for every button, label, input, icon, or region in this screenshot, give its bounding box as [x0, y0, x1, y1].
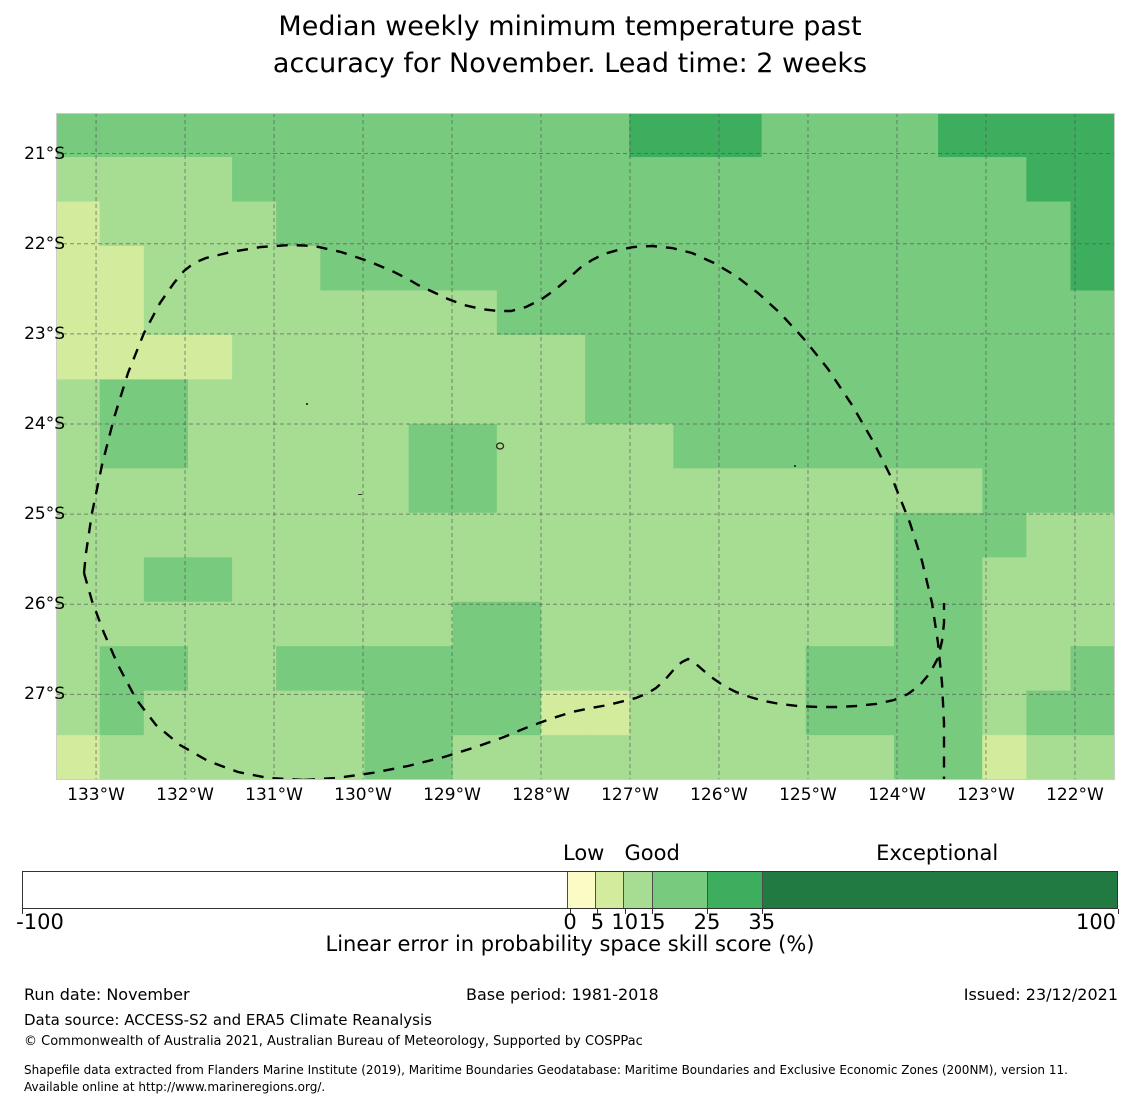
colorbar-tick-mark	[22, 909, 23, 914]
run-date-text: Run date: November	[24, 985, 190, 1004]
x-tick-label: 129°W	[423, 787, 481, 804]
x-tick-label: 123°W	[957, 787, 1015, 804]
colorbar-tick-mark	[707, 909, 708, 914]
x-tick-label: 126°W	[690, 787, 748, 804]
colorbar-tick-label: 35	[748, 912, 775, 933]
island-markers	[56, 113, 1115, 780]
colorbar-segment	[596, 872, 624, 908]
y-tick-label: 23°S	[24, 326, 65, 343]
x-tick-label: 132°W	[156, 787, 214, 804]
colorbar-segment	[23, 872, 568, 908]
data-source-text: Data source: ACCESS-S2 and ERA5 Climate …	[24, 1011, 432, 1029]
footer: Run date: November Base period: 1981-201…	[0, 985, 1140, 1007]
shapefile-attribution-text: Shapefile data extracted from Flanders M…	[24, 1062, 1124, 1096]
colorbar-axis-label: Linear error in probability space skill …	[0, 932, 1140, 956]
colorbar-tick-label: -100	[16, 912, 64, 933]
base-period-text: Base period: 1981-2018	[466, 985, 659, 1004]
x-tick-label: 128°W	[512, 787, 570, 804]
colorbar-segment	[568, 872, 596, 908]
y-tick-label: 27°S	[24, 686, 65, 703]
colorbar-segment	[763, 872, 1117, 908]
colorbar-category-label: Low	[563, 843, 604, 864]
colorbar-segment	[653, 872, 708, 908]
colorbar-category-label: Exceptional	[876, 843, 998, 864]
colorbar-tick-mark	[570, 909, 571, 914]
copyright-text: © Commonwealth of Australia 2021, Austra…	[24, 1034, 643, 1049]
x-tick-label: 127°W	[601, 787, 659, 804]
colorbar-tick-label: 100	[1076, 912, 1116, 933]
colorbar-tick-label: 15	[639, 912, 666, 933]
colorbar-tick-mark	[1118, 909, 1119, 914]
colorbar-tick-label: 25	[694, 912, 721, 933]
x-tick-label: 130°W	[334, 787, 392, 804]
x-tick-label: 131°W	[245, 787, 303, 804]
y-tick-label: 22°S	[24, 236, 65, 253]
x-tick-label: 125°W	[779, 787, 837, 804]
issued-date-text: Issued: 23/12/2021	[964, 985, 1118, 1004]
colorbar-category-label: Good	[625, 843, 680, 864]
y-tick-label: 26°S	[24, 596, 65, 613]
colorbar-tick-mark	[625, 909, 626, 914]
colorbar-tick-mark	[652, 909, 653, 914]
colorbar-segment	[708, 872, 763, 908]
x-tick-label: 133°W	[67, 787, 125, 804]
y-tick-label: 24°S	[24, 416, 65, 433]
colorbar-tick-mark	[597, 909, 598, 914]
heatmap-panel	[56, 113, 1115, 780]
colorbar-segment	[624, 872, 652, 908]
y-tick-label: 25°S	[24, 506, 65, 523]
chart-title: Median weekly minimum temperature past a…	[0, 8, 1140, 82]
colorbar-tick-mark	[762, 909, 763, 914]
x-tick-label: 122°W	[1046, 787, 1104, 804]
colorbar-segments	[22, 871, 1118, 909]
x-tick-label: 124°W	[868, 787, 926, 804]
y-tick-label: 21°S	[24, 146, 65, 163]
colorbar-tick-label: 10	[611, 912, 638, 933]
colorbar-tick-label: 5	[591, 912, 604, 933]
colorbar-tick-label: 0	[563, 912, 576, 933]
colorbar	[22, 871, 1118, 909]
